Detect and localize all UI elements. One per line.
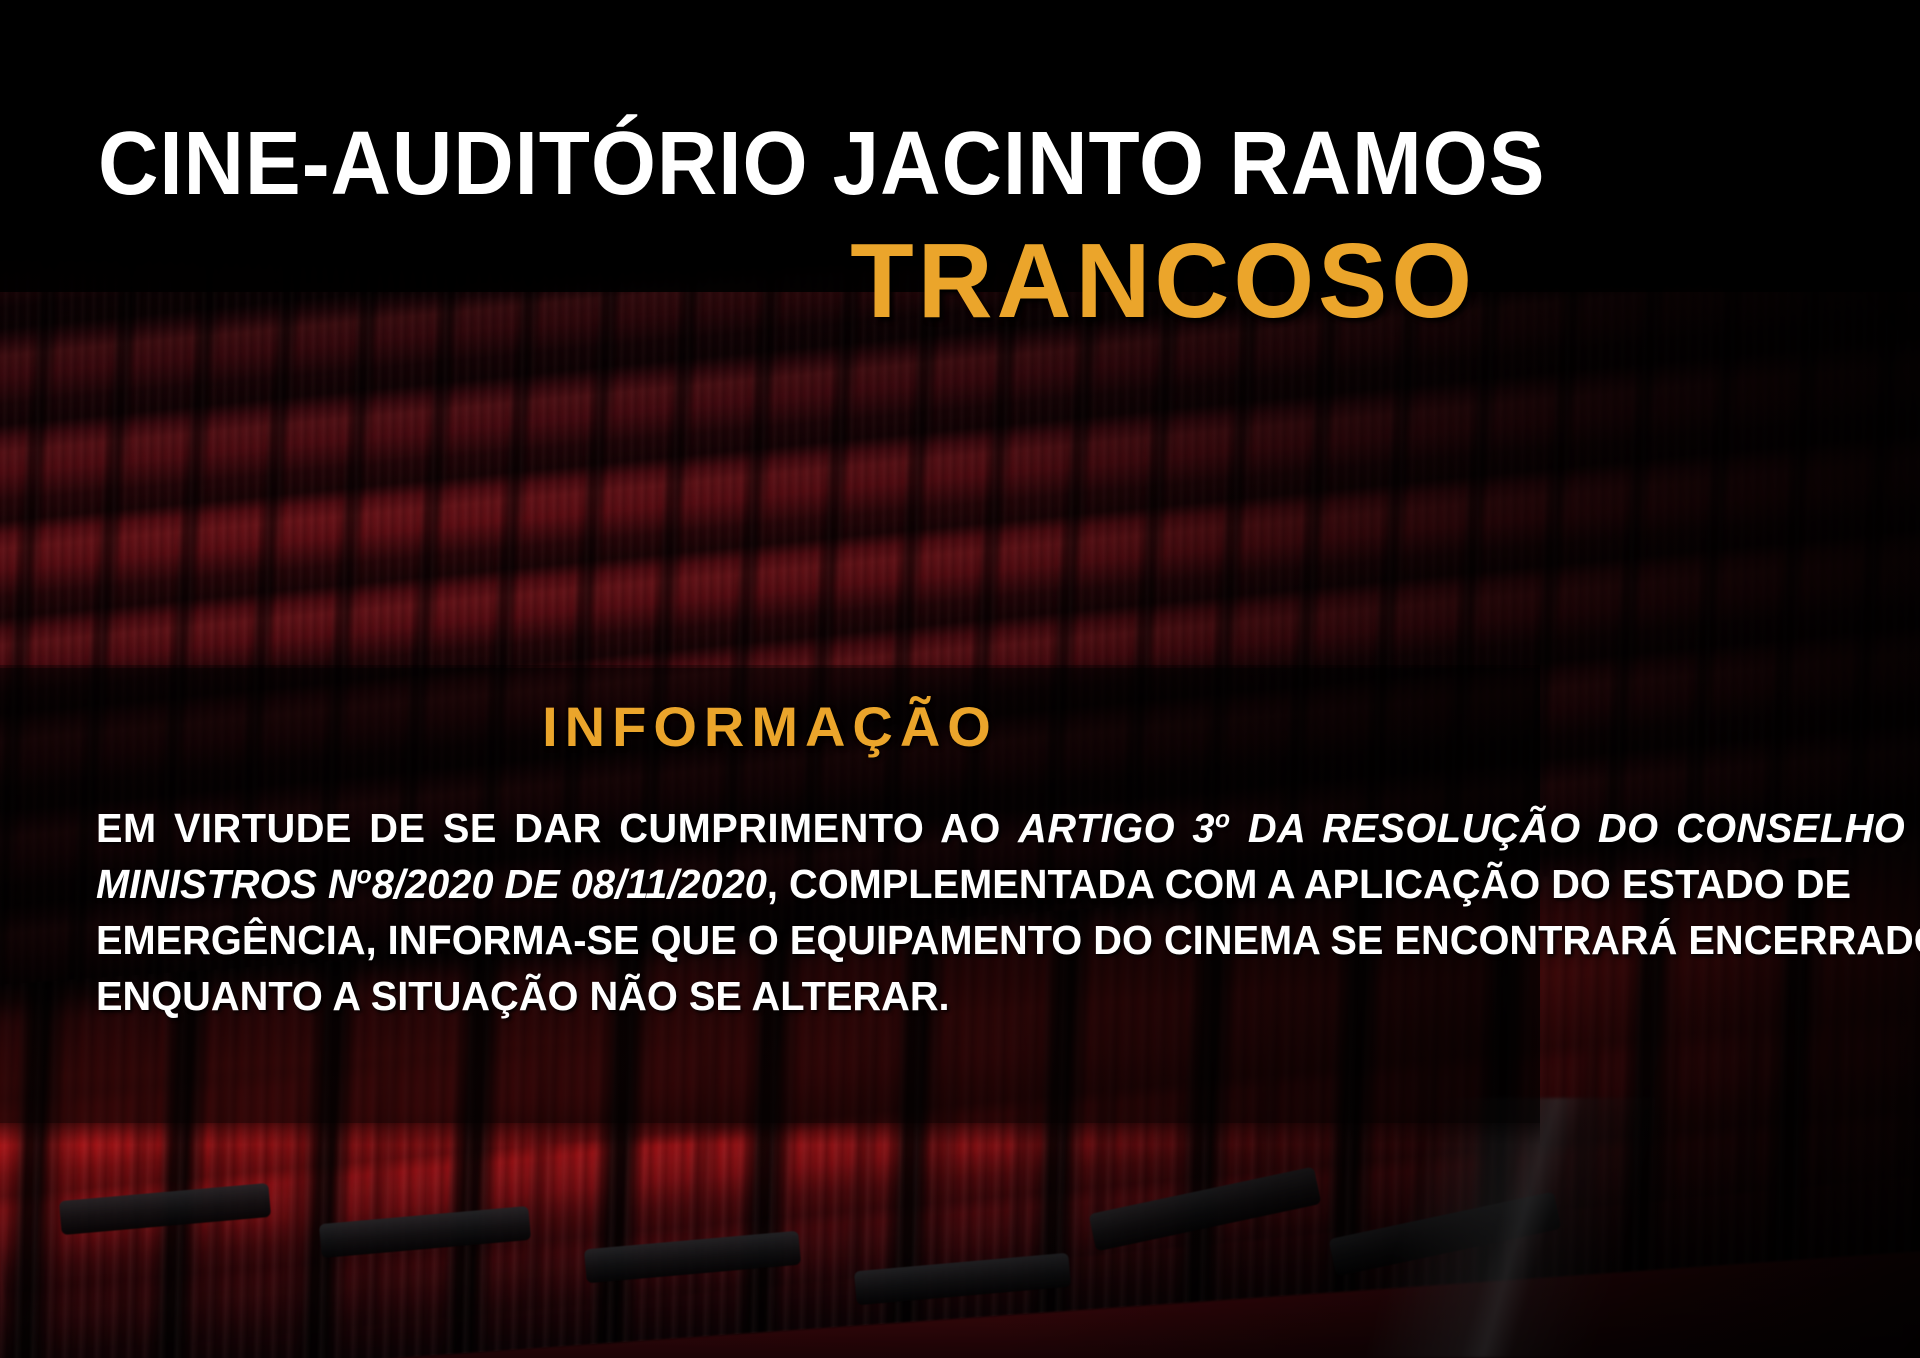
ordinal-indicator: o [1215, 805, 1231, 833]
notice-line-1: EM VIRTUDE DE SE DAR CUMPRIMENTO AO ARTI… [96, 800, 1440, 856]
notice-line-4: ENQUANTO A SITUAÇÃO NÃO SE ALTERAR. [96, 968, 1440, 1024]
cinema-closure-notice-poster: CINE-AUDITÓRIO JACINTO RAMOS TRANCOSO IN… [0, 0, 1920, 1358]
notice-plain-text: ENQUANTO A SITUAÇÃO NÃO SE ALTERAR. [96, 973, 950, 1019]
venue-title: CINE-AUDITÓRIO JACINTO RAMOS [98, 122, 1409, 208]
notice-emphasis-text: ARTIGO 3o DA RESOLUÇÃO DO CONSELHO DE [1018, 805, 1920, 851]
ordinal-indicator: o [357, 861, 372, 889]
notice-plain-text: EMERGÊNCIA, INFORMA-SE QUE O EQUIPAMENTO… [96, 917, 1920, 963]
notice-panel-lower-shade [0, 1123, 1540, 1145]
notice-line-2: MINISTROS No8/2020 DE 08/11/2020, COMPLE… [96, 856, 1440, 912]
notice-body-text: EM VIRTUDE DE SE DAR CUMPRIMENTO AO ARTI… [96, 800, 1440, 1024]
venue-location: TRANCOSO [126, 228, 1476, 334]
notice-emphasis-text: MINISTROS No8/2020 DE 08/11/2020 [96, 861, 767, 907]
notice-plain-text: EM VIRTUDE DE SE DAR CUMPRIMENTO AO [96, 805, 1018, 851]
notice-heading: INFORMAÇÃO [0, 694, 1540, 759]
notice-line-3: EMERGÊNCIA, INFORMA-SE QUE O EQUIPAMENTO… [96, 912, 1440, 968]
notice-plain-text: , COMPLEMENTADA COM A APLICAÇÃO DO ESTAD… [767, 861, 1851, 907]
